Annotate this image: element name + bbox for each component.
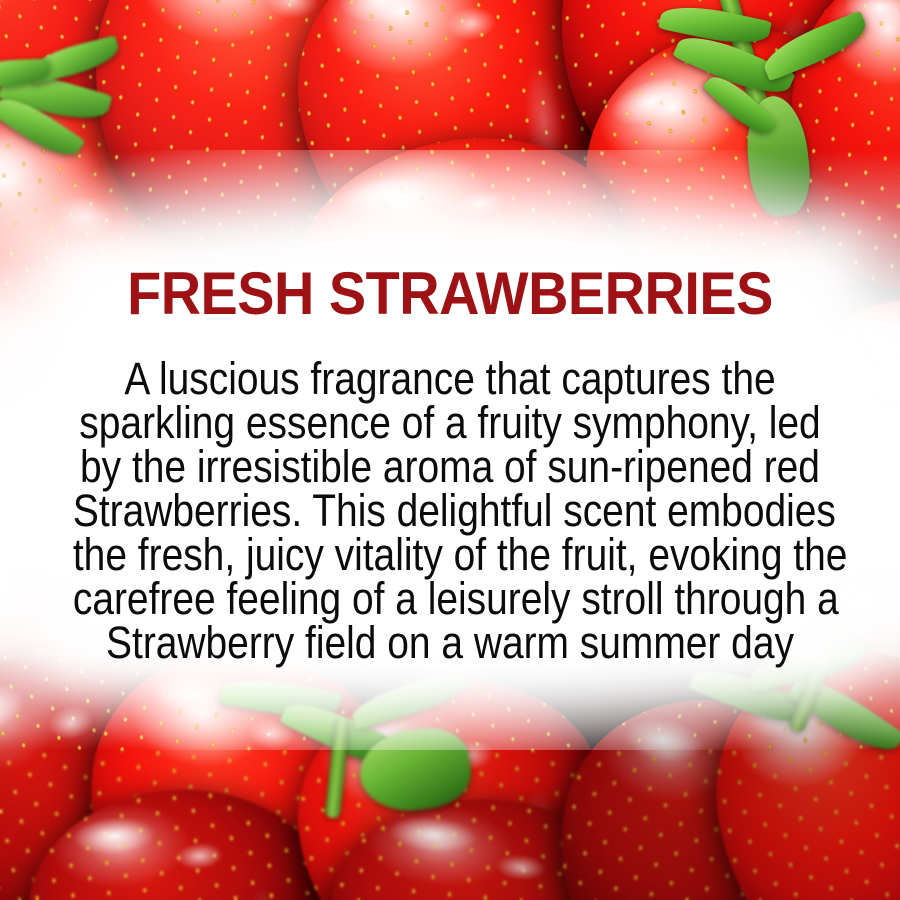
product-description: A luscious fragrance that captures the s… <box>73 357 827 665</box>
page-title: FRESH STRAWBERRIES <box>32 264 869 324</box>
description-line: A luscious fragrance that captures the <box>73 357 827 401</box>
description-line: by the irresistible aroma of sun-ripened… <box>73 445 827 489</box>
description-line: Strawberries. This delightful scent embo… <box>73 489 827 533</box>
description-line: Strawberry field on a warm summer day <box>73 621 827 665</box>
description-line: the fresh, juicy vitality of the fruit, … <box>73 533 827 577</box>
text-content: FRESH STRAWBERRIES A luscious fragrance … <box>0 0 900 900</box>
strawberry-product-card: FRESH STRAWBERRIES A luscious fragrance … <box>0 0 900 900</box>
description-line: carefree feeling of a leisurely stroll t… <box>73 577 827 621</box>
description-line: sparkling essence of a fruity symphony, … <box>73 401 827 445</box>
